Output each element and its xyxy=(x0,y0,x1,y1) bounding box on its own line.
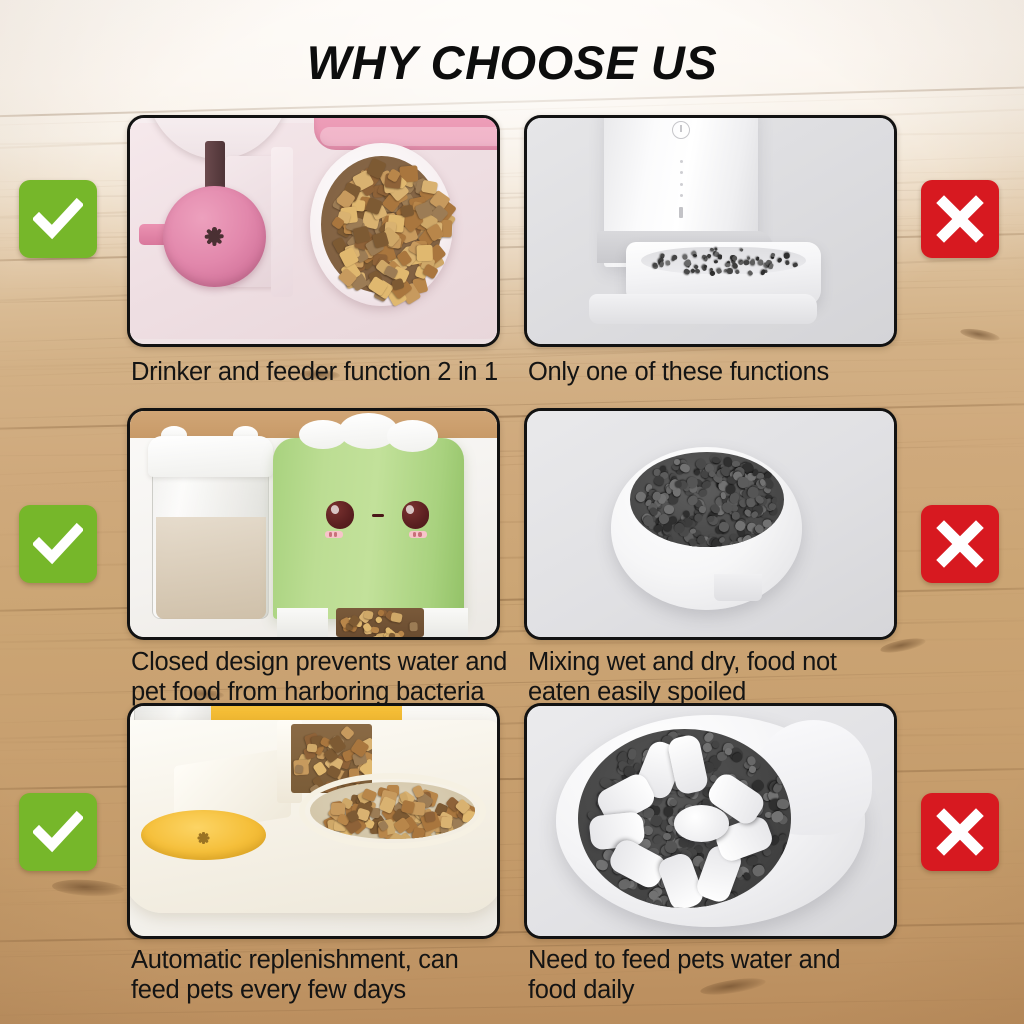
check-badge-row1 xyxy=(19,180,97,258)
kibble-piece xyxy=(294,764,304,774)
kibble-piece xyxy=(739,260,744,265)
cross-badge-row2 xyxy=(921,505,999,583)
caption-con-3: Need to feed pets water and food daily xyxy=(528,946,908,1005)
indicator-dot-4 xyxy=(680,194,683,197)
caption-con-2: Mixing wet and dry, food not eaten easil… xyxy=(528,648,908,707)
tray-divider-b xyxy=(271,147,293,296)
product-photo-pro-3 xyxy=(127,703,500,939)
white-auto-feeder-image xyxy=(527,118,894,344)
kibble-piece xyxy=(421,179,438,194)
indicator-dot-1 xyxy=(680,160,683,163)
cross-icon xyxy=(936,195,984,243)
kibble-piece xyxy=(770,252,775,257)
pink-feeder-image xyxy=(130,118,497,344)
kibble-piece xyxy=(390,612,402,623)
slow-feeder-maze-bowl-image xyxy=(527,706,894,936)
product-photo-con-1 xyxy=(524,115,897,347)
dry-kibble-pile xyxy=(630,452,784,547)
bowl-notch xyxy=(714,574,762,601)
caption-con-1: Only one of these functions xyxy=(528,358,908,388)
kibble-piece xyxy=(732,256,737,261)
product-photo-con-3 xyxy=(524,703,897,939)
kibble-piece xyxy=(668,536,674,543)
check-icon xyxy=(33,194,83,244)
yellow-gravity-feeder-image xyxy=(130,706,497,936)
cat-eye-right xyxy=(402,501,430,528)
kibble-piece xyxy=(409,623,417,633)
cat-blush-right xyxy=(409,531,427,538)
caption-pro-1: Drinker and feeder function 2 in 1 xyxy=(131,358,511,388)
kibble-piece xyxy=(779,833,788,841)
cross-icon xyxy=(936,808,984,856)
kibble-piece xyxy=(699,505,707,513)
kibble-piece xyxy=(735,269,741,275)
product-photo-pro-1 xyxy=(127,115,500,347)
indicator-dot-3 xyxy=(680,183,683,186)
cross-badge-row3 xyxy=(921,793,999,871)
yellow-water-dish xyxy=(141,810,266,861)
kibble-piece xyxy=(718,254,722,259)
cat-eye-left xyxy=(326,501,354,528)
check-icon xyxy=(33,807,83,857)
kibble-piece xyxy=(674,458,681,464)
product-photo-con-2 xyxy=(524,408,897,640)
kibble-piece xyxy=(659,261,664,267)
kibble-piece xyxy=(698,489,708,499)
kibble-piece xyxy=(616,877,631,891)
kibble-piece xyxy=(375,616,383,624)
bottle-cap xyxy=(148,436,273,477)
kibble-piece xyxy=(352,225,371,243)
kibble-piece xyxy=(792,262,798,268)
kibble-piece xyxy=(627,748,637,760)
status-bar-icon xyxy=(679,207,683,218)
kibble-piece xyxy=(738,477,749,488)
kibble-piece xyxy=(714,248,718,251)
maze-center-nub xyxy=(674,805,729,842)
kibble-piece xyxy=(306,744,317,753)
green-cat-feeder-image xyxy=(130,411,497,637)
power-button-icon xyxy=(672,121,690,139)
cat-blush-left xyxy=(325,531,343,538)
water-level xyxy=(156,517,266,619)
green-feeder-body xyxy=(273,438,464,619)
kibble-piece xyxy=(783,253,789,259)
caption-pro-2: Closed design prevents water and pet foo… xyxy=(131,648,511,707)
check-badge-row2 xyxy=(19,505,97,583)
feeder-foot-right xyxy=(416,608,467,637)
bowl-kibble-area xyxy=(641,247,806,274)
cloud-blob-3 xyxy=(387,420,438,452)
kibble-piece xyxy=(771,497,778,505)
food-dish-rim xyxy=(299,773,486,849)
kibble-piece xyxy=(777,798,789,809)
kibble-piece xyxy=(713,260,718,264)
check-icon xyxy=(33,519,83,569)
kibble-piece xyxy=(595,859,609,871)
caption-pro-3: Automatic replenishment, can feed pets e… xyxy=(131,946,511,1005)
product-photo-pro-2 xyxy=(127,408,500,640)
kibble-piece xyxy=(716,268,722,274)
kibble-piece xyxy=(704,264,708,268)
kibble-piece xyxy=(665,807,674,817)
kibble-piece xyxy=(752,863,767,878)
cross-icon xyxy=(936,520,984,568)
cross-badge-row1 xyxy=(921,180,999,258)
feeder-foot-left xyxy=(277,608,328,637)
indicator-dot-2 xyxy=(680,171,683,174)
kibble-piece xyxy=(672,258,676,262)
kibble-piece xyxy=(340,725,355,740)
kibble-piece xyxy=(743,260,750,266)
kibble-piece xyxy=(667,260,671,265)
water-stem xyxy=(205,141,225,191)
kibble-piece xyxy=(693,254,698,258)
cat-mouth xyxy=(372,514,384,518)
feeder-base xyxy=(589,294,817,323)
kibble-piece xyxy=(674,480,681,488)
food-chute-with-kibble xyxy=(336,608,424,637)
kibble-piece xyxy=(416,245,432,261)
plain-white-bowl-image xyxy=(527,411,894,637)
check-badge-row3 xyxy=(19,793,97,871)
food-bowl-with-kibble xyxy=(310,143,453,306)
kibble-piece xyxy=(769,265,773,269)
kibble-piece xyxy=(776,257,782,264)
page-title: WHY CHOOSE US xyxy=(0,35,1024,90)
kibble-piece xyxy=(726,268,732,274)
kibble-piece xyxy=(740,249,744,253)
kibble-piece xyxy=(652,834,664,846)
pink-water-dish xyxy=(163,186,266,288)
kibble-piece xyxy=(750,260,755,265)
pink-food-lid xyxy=(314,115,501,150)
